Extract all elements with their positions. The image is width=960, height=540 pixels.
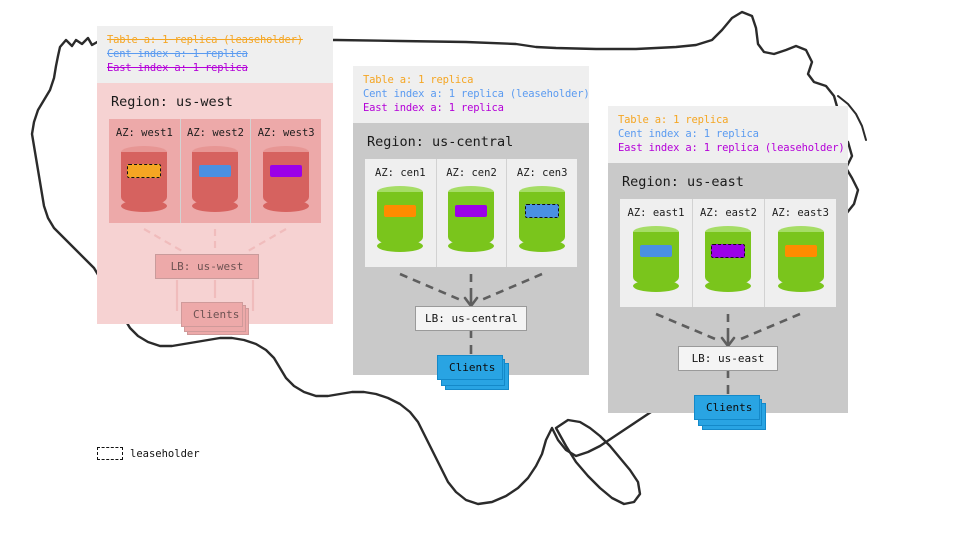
replica-chip-east-index-a-leaseholder [711,244,745,258]
region-us-central[interactable]: Table a: 1 replica Cent index a: 1 repli… [353,66,589,375]
az-west1-label: AZ: west1 [116,127,173,139]
az-cen1[interactable]: AZ: cen1 [365,159,436,267]
region-us-central-replica-legend: Table a: 1 replica Cent index a: 1 repli… [353,66,589,123]
replica-chip-table-a [785,245,817,257]
az-cen3-label: AZ: cen3 [517,167,568,179]
az-east2-node[interactable] [705,226,751,292]
region-us-central-body: Region: us-central AZ: cen1 AZ: cen2 [353,123,589,375]
replica-chip-cent-index-a-leaseholder [525,204,559,218]
region-us-east-body: Region: us-east AZ: east1 AZ: east2 [608,163,848,413]
dashed-rectangle-icon [97,447,123,460]
cylinder-body [519,192,565,246]
replica-line-east-index-a: East index a: 1 replica (leaseholder) [618,141,838,155]
az-west1-node[interactable] [121,146,167,212]
az-cen3-node[interactable] [519,186,565,252]
clients-us-central-label: Clients [437,355,503,380]
az-west3-label: AZ: west3 [258,127,315,139]
az-west2[interactable]: AZ: west2 [180,119,251,223]
replica-line-table-a: Table a: 1 replica [363,73,579,87]
region-us-west-body: Region: us-west AZ: west1 AZ: west2 [97,83,333,324]
replica-line-east-index-a: East index a: 1 replica [107,61,323,75]
replica-line-cent-index-a: Cent index a: 1 replica (leaseholder) [363,87,579,101]
az-west2-node[interactable] [192,146,238,212]
az-east3[interactable]: AZ: east3 [764,199,836,307]
florida-peninsula-path [556,420,640,504]
az-west3-node[interactable] [263,146,309,212]
region-us-east-title: Region: us-east [608,163,848,199]
az-east2-label: AZ: east2 [700,207,757,219]
cylinder-body [633,232,679,286]
leaseholder-key: leaseholder [97,447,200,460]
az-cen1-label: AZ: cen1 [375,167,426,179]
cylinder-body [377,192,423,246]
clients-us-west-label: Clients [181,302,243,327]
region-us-west[interactable]: Table a: 1 replica (leaseholder) Cent in… [97,26,333,324]
cylinder-body [263,152,309,206]
cylinder-body [121,152,167,206]
az-east1-node[interactable] [633,226,679,292]
az-west3[interactable]: AZ: west3 [250,119,321,223]
leaseholder-key-label: leaseholder [130,448,200,460]
region-us-west-replica-legend: Table a: 1 replica (leaseholder) Cent in… [97,26,333,83]
region-us-central-title: Region: us-central [353,123,589,159]
cylinder-body [705,232,751,286]
region-us-east-replica-legend: Table a: 1 replica Cent index a: 1 repli… [608,106,848,163]
replica-line-table-a: Table a: 1 replica [618,113,838,127]
az-cen3[interactable]: AZ: cen3 [506,159,577,267]
clients-us-east-label: Clients [694,395,760,420]
replica-chip-east-index-a [270,165,302,177]
replica-line-cent-index-a: Cent index a: 1 replica [107,47,323,61]
load-balancer-us-east[interactable]: LB: us-east [678,346,778,371]
az-cen2-label: AZ: cen2 [446,167,497,179]
az-east1[interactable]: AZ: east1 [620,199,692,307]
cylinder-body [778,232,824,286]
az-east2[interactable]: AZ: east2 [692,199,764,307]
replica-line-east-index-a: East index a: 1 replica [363,101,579,115]
replica-line-table-a: Table a: 1 replica (leaseholder) [107,33,323,47]
region-us-west-az-row: AZ: west1 AZ: west2 AZ: west3 [109,119,321,223]
cylinder-body [192,152,238,206]
replica-chip-table-a-leaseholder [127,164,161,178]
az-cen1-node[interactable] [377,186,423,252]
region-us-east[interactable]: Table a: 1 replica Cent index a: 1 repli… [608,106,848,413]
load-balancer-us-west[interactable]: LB: us-west [155,254,259,279]
az-cen2-node[interactable] [448,186,494,252]
clients-us-central[interactable]: Clients [437,355,503,389]
cylinder-body [448,192,494,246]
replica-chip-east-index-a [455,205,487,217]
replica-chip-table-a [384,205,416,217]
clients-us-east[interactable]: Clients [694,395,760,429]
replica-chip-cent-index-a [640,245,672,257]
region-us-central-az-row: AZ: cen1 AZ: cen2 AZ: cen3 [365,159,577,267]
az-west2-label: AZ: west2 [187,127,244,139]
az-west1[interactable]: AZ: west1 [109,119,180,223]
az-east3-label: AZ: east3 [772,207,829,219]
replica-chip-cent-index-a [199,165,231,177]
replica-line-cent-index-a: Cent index a: 1 replica [618,127,838,141]
load-balancer-us-central[interactable]: LB: us-central [415,306,527,331]
clients-us-west[interactable]: Clients [181,302,243,334]
region-us-east-az-row: AZ: east1 AZ: east2 AZ: east3 [620,199,836,307]
az-cen2[interactable]: AZ: cen2 [436,159,507,267]
region-us-west-title: Region: us-west [97,83,333,119]
az-east3-node[interactable] [778,226,824,292]
az-east1-label: AZ: east1 [628,207,685,219]
